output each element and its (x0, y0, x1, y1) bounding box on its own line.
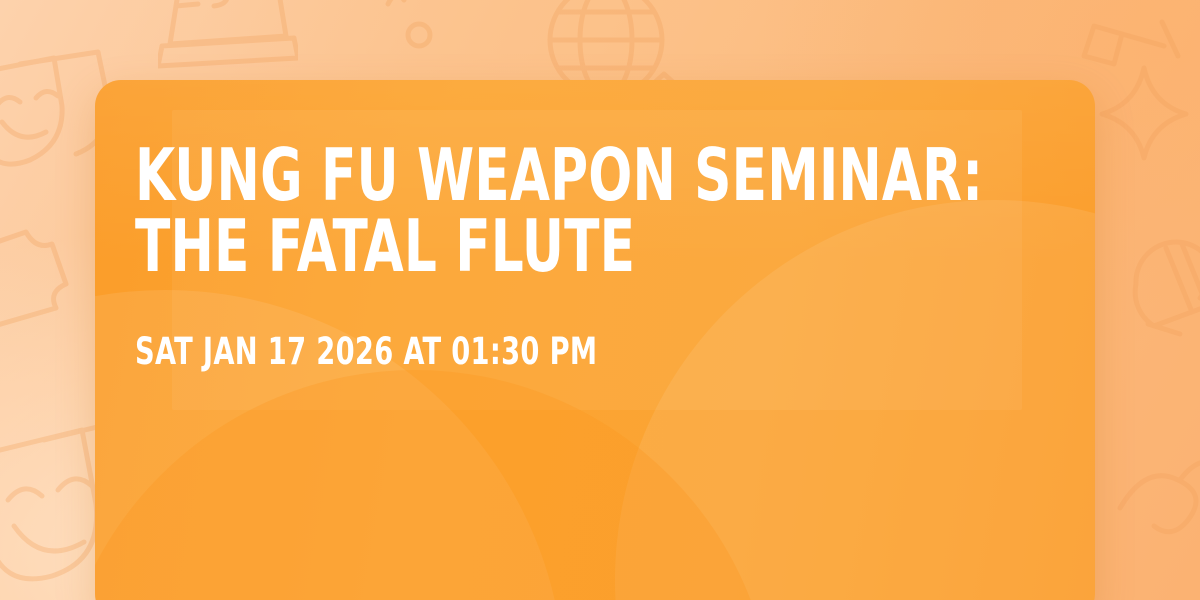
event-card: Kung Fu Weapon Seminar: The Fatal Flute … (95, 80, 1095, 600)
card-content: Kung Fu Weapon Seminar: The Fatal Flute … (135, 140, 1040, 370)
event-title: Kung Fu Weapon Seminar: The Fatal Flute (135, 140, 1039, 283)
event-banner: Kung Fu Weapon Seminar: The Fatal Flute … (0, 0, 1200, 600)
event-date: Sat Jan 17 2026 at 01:30 PM (135, 333, 701, 370)
